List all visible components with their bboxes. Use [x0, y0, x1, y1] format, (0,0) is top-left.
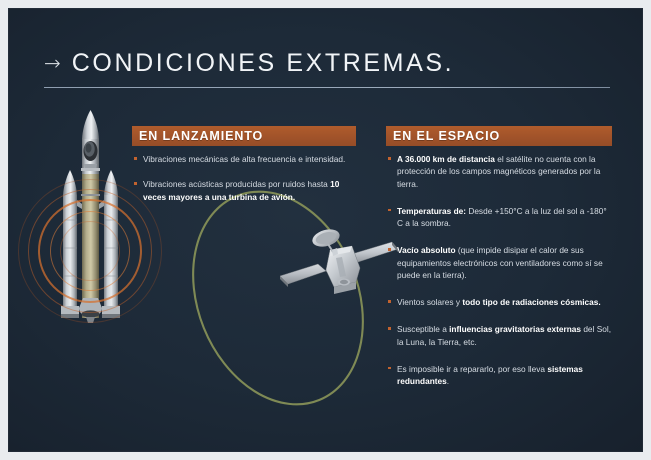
- shockwave-ring-inner: [60, 221, 120, 281]
- bullet-item: Vientos solares y todo tipo de radiacion…: [388, 296, 614, 308]
- satellite-svg: [270, 224, 405, 319]
- title-row: → CONDICIONES EXTREMAS.: [44, 46, 610, 80]
- bullet-emphasis: A 36.000 km de distancia: [397, 154, 495, 164]
- bullet-emphasis: Vacío absoluto: [397, 245, 456, 255]
- bullet-emphasis: Temperaturas de:: [397, 206, 466, 216]
- bullet-emphasis: influencias gravitatorias externas: [449, 324, 581, 334]
- bullet-text: .: [447, 376, 449, 386]
- bullet-emphasis: todo tipo de radiaciones cósmicas.: [462, 297, 600, 307]
- bullet-text: Vientos solares: [397, 297, 454, 307]
- arrow-right-icon: →: [44, 53, 61, 73]
- section-header-launch: EN LANZAMIENTO: [132, 126, 356, 146]
- bullet-item: A 36.000 km de distancia el satélite no …: [388, 153, 614, 190]
- satellite-illustration: [270, 224, 405, 319]
- title-divider: [44, 87, 610, 88]
- bullet-list-launch: Vibraciones mecánicas de alta frecuencia…: [134, 153, 362, 216]
- bullet-item: Vacío absoluto (que impide disipar el ca…: [388, 244, 614, 281]
- bullet-text: Es imposible ir a repararlo, por eso lle…: [397, 364, 547, 374]
- bullet-item: Vibraciones acústicas producidas por rui…: [134, 178, 362, 203]
- bullet-item: Es imposible ir a repararlo, por eso lle…: [388, 363, 614, 388]
- section-header-space: EN EL ESPACIO: [386, 126, 612, 146]
- page-title: CONDICIONES EXTREMAS.: [72, 49, 454, 78]
- bullet-item: Vibraciones mecánicas de alta frecuencia…: [134, 153, 362, 165]
- bullet-item: Susceptible a influencias gravitatorias …: [388, 323, 614, 348]
- title-block: → CONDICIONES EXTREMAS.: [44, 46, 610, 88]
- bullet-item: Temperaturas de: Desde +150°C a la luz d…: [388, 205, 614, 230]
- bullet-list-space: A 36.000 km de distancia el satélite no …: [388, 153, 614, 402]
- slide-canvas: → CONDICIONES EXTREMAS.: [8, 8, 643, 452]
- bullet-text: Vibraciones acústicas producidas por rui…: [143, 179, 330, 189]
- slide-frame: → CONDICIONES EXTREMAS.: [0, 0, 651, 460]
- bullet-text: Susceptible a: [397, 324, 449, 334]
- bullet-text: Vibraciones mecánicas de alta frecuencia…: [143, 154, 345, 164]
